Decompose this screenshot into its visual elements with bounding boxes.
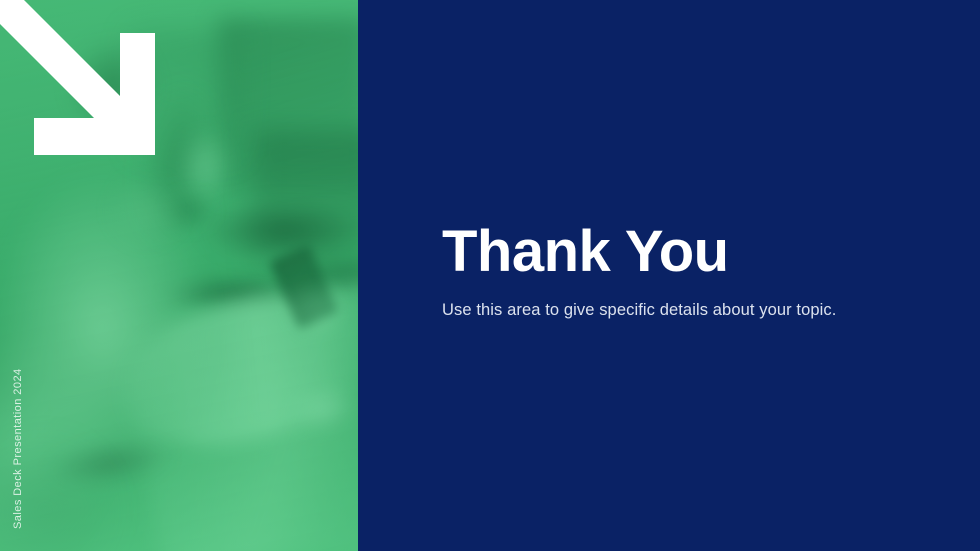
left-photo-panel: Sales Deck Presentation 2024 (0, 0, 358, 551)
slide-title: Thank You (442, 222, 942, 283)
arrow-down-right-icon (0, 0, 200, 200)
slide-subtitle: Use this area to give specific details a… (442, 299, 942, 322)
side-label-presentation: Sales Deck Presentation 2024 (12, 368, 24, 529)
text-block: Thank You Use this area to give specific… (442, 222, 942, 322)
slide-thank-you: Sales Deck Presentation 2024 Thank You U… (0, 0, 980, 551)
